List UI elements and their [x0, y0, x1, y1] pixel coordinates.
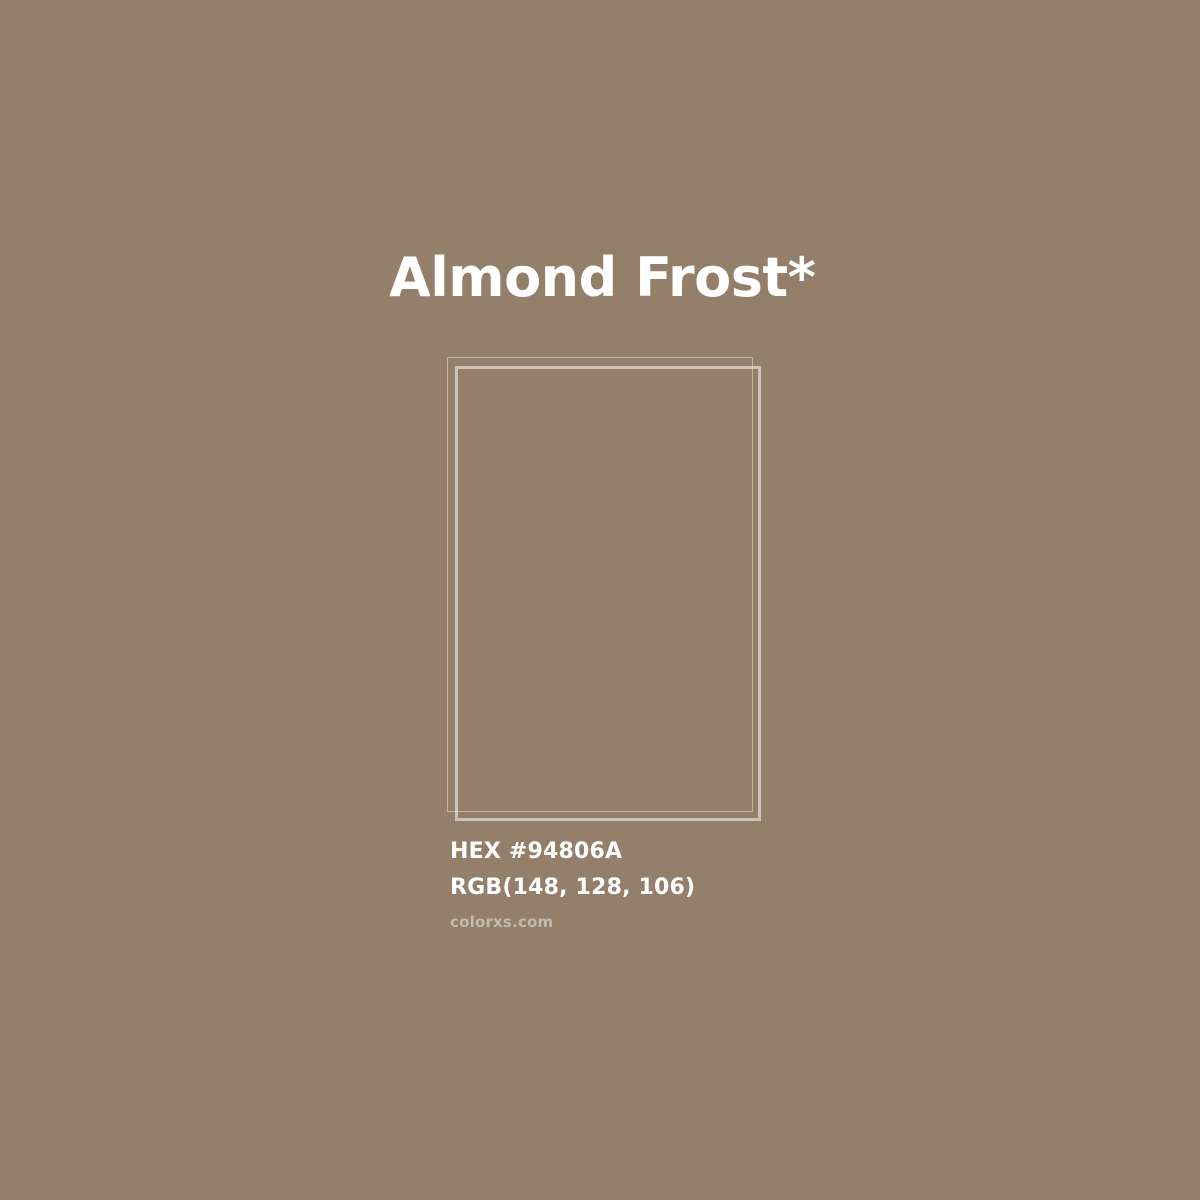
color-swatch-page: Almond Frost* HEX #94806A RGB(148, 128, … [0, 0, 1200, 1200]
color-swatch [447, 357, 762, 822]
page-title: Almond Frost* [389, 247, 815, 309]
rgb-value: RGB(148, 128, 106) [450, 870, 950, 906]
site-credit: colorxs.com [450, 906, 950, 932]
color-info-block: HEX #94806A RGB(148, 128, 106) colorxs.c… [450, 834, 950, 932]
swatch-frame-front [455, 366, 761, 821]
hex-value: HEX #94806A [450, 834, 950, 870]
